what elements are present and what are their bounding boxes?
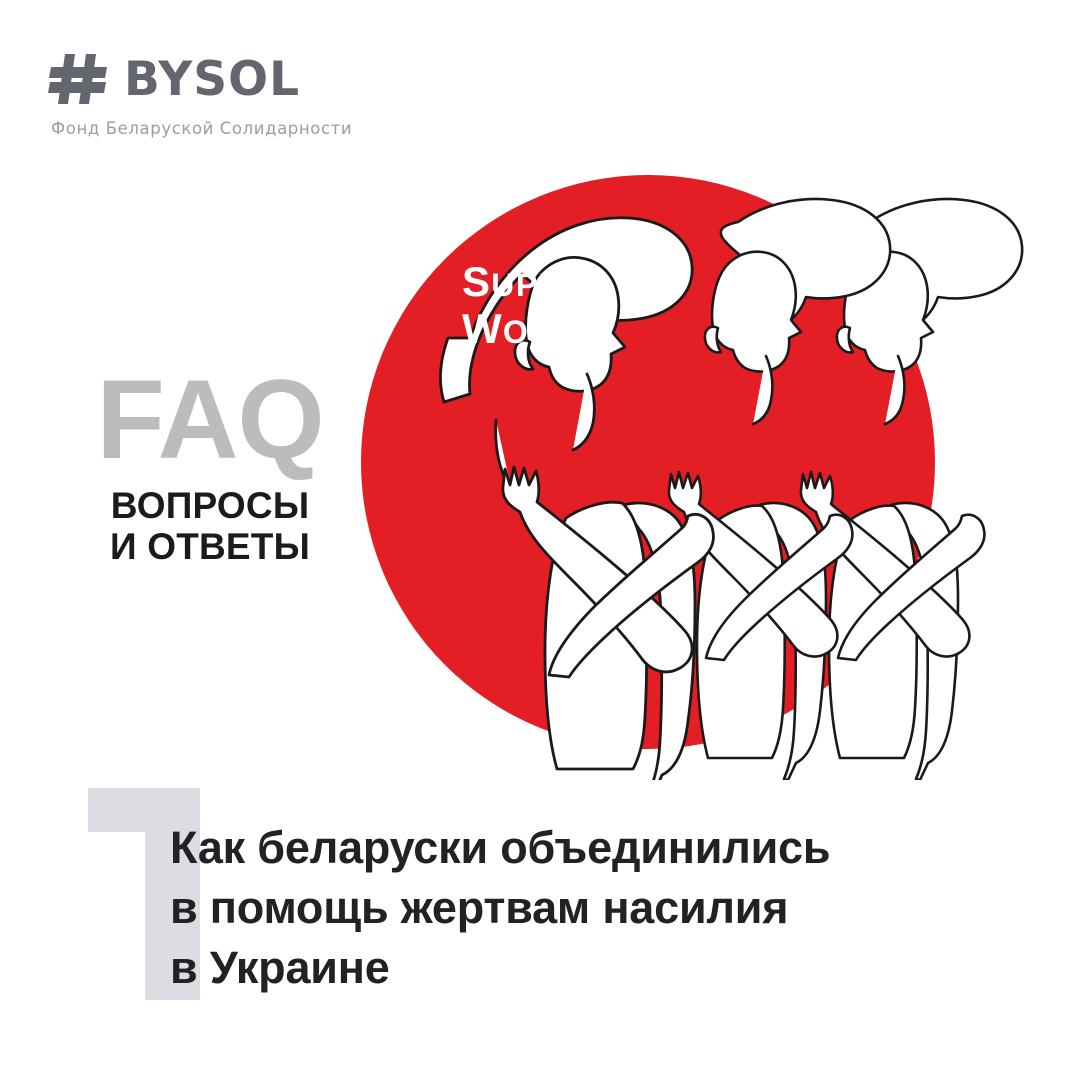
illustration (330, 160, 1080, 780)
headline-line-1: Как беларуски объединились (170, 818, 1030, 878)
women-rest: OMEN (503, 314, 605, 350)
support-rest: UPPORT (491, 267, 633, 303)
logo-wordmark: BYSOL (124, 56, 300, 103)
bysol-logo[interactable]: BYSOL Фонд Беларуской Солидарности (48, 52, 352, 138)
support-women-text: SUPPORT WOMEN (462, 258, 634, 352)
faq-subtitle-line-1: ВОПРОСЫ (111, 485, 310, 526)
poster-canvas: BYSOL Фонд Беларуской Солидарности FAQ В… (0, 0, 1080, 1080)
logo-tagline: Фонд Беларуской Солидарности (51, 119, 352, 138)
page-title: Как беларуски объединились в помощь жерт… (170, 818, 1030, 998)
faq-block: FAQ ВОПРОСЫ И ОТВЕТЫ (80, 368, 340, 568)
support-cap: S (462, 258, 491, 305)
support-women-line-1: SUPPORT (462, 258, 634, 305)
support-women-line-2: WOMEN (462, 305, 634, 352)
women-cap: W (462, 305, 503, 352)
faq-title: FAQ (80, 368, 340, 471)
faq-subtitle: ВОПРОСЫ И ОТВЕТЫ (80, 485, 340, 568)
logo-row: BYSOL (48, 52, 352, 106)
headline-line-2: в помощь жертвам насилия (170, 878, 1030, 938)
headline-line-3: в Украине (170, 938, 1030, 998)
hash-icon (48, 52, 110, 106)
faq-subtitle-line-2: И ОТВЕТЫ (110, 526, 310, 567)
